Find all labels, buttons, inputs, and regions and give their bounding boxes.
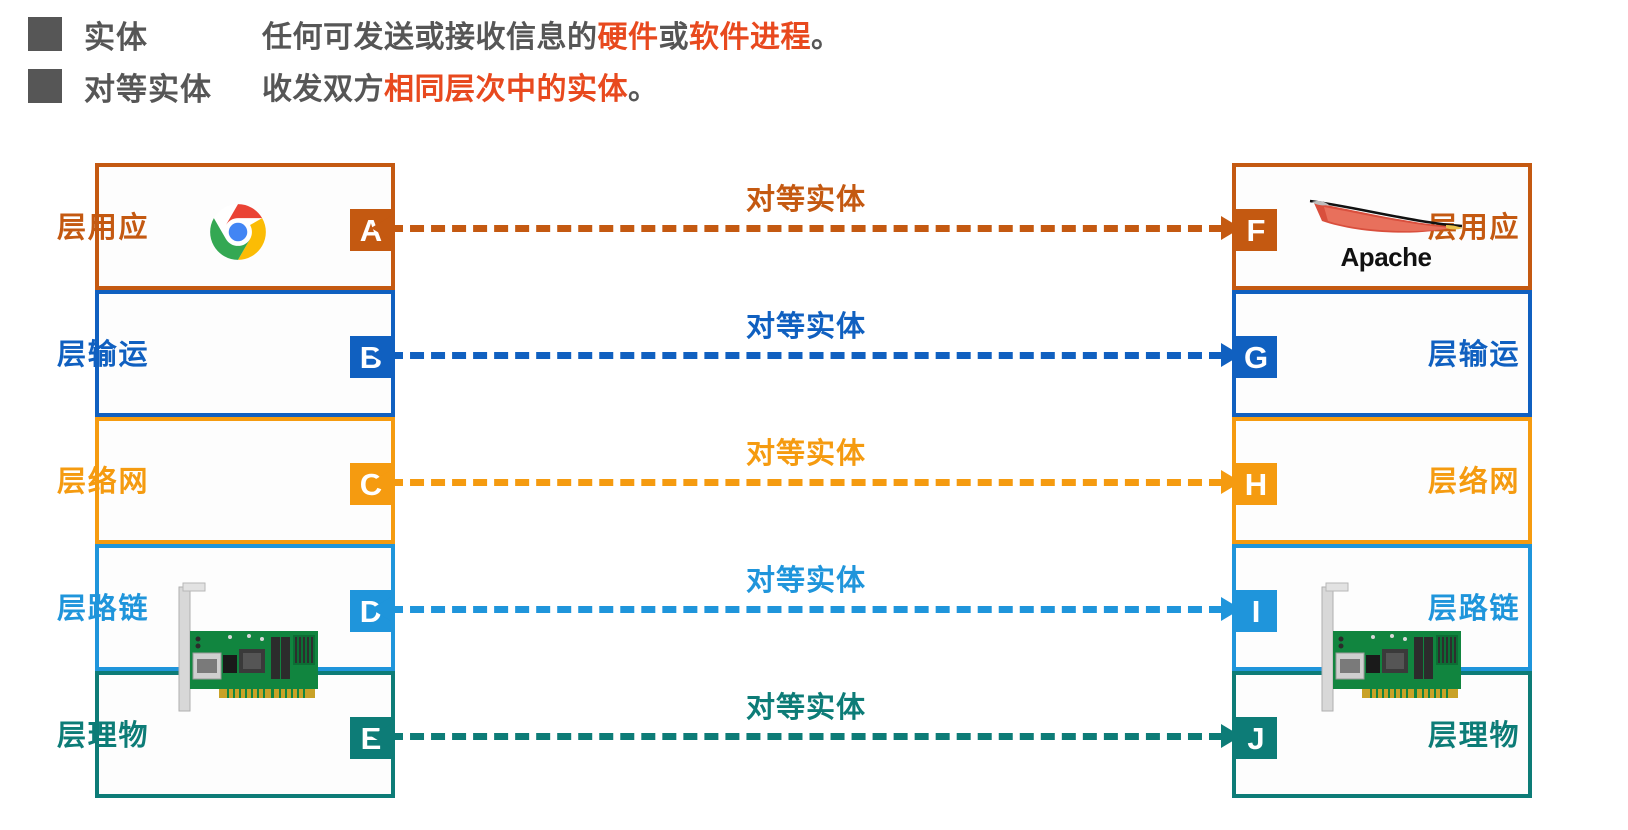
peer-link-dashed-line — [389, 606, 1223, 613]
peer-link-label-transport: 对等实体 — [375, 303, 1237, 345]
apache-feather-icon — [1296, 193, 1476, 241]
right-layer-label-transport: 运输层 — [1482, 324, 1516, 384]
right-layer-label-application: 应用层 — [1482, 197, 1516, 257]
network-interface-card-icon — [1310, 579, 1470, 719]
peer-link-dashed-line — [389, 733, 1223, 740]
right-entity-badge-i[interactable]: I — [1235, 590, 1277, 632]
peer-link-dashed-line — [389, 225, 1223, 232]
right-entity-badge-j[interactable]: J — [1235, 717, 1277, 759]
right-layer-label-link: 链路层 — [1482, 578, 1516, 638]
right-entity-badge-g[interactable]: G — [1235, 336, 1277, 378]
arrow-left-icon — [371, 216, 391, 240]
peer-link-label-physical: 对等实体 — [375, 684, 1237, 726]
peer-link-label-network: 对等实体 — [375, 430, 1237, 472]
peer-link-dashed-line — [389, 352, 1223, 359]
arrow-right-icon — [1221, 724, 1241, 748]
apache-logo: Apache — [1296, 193, 1476, 273]
right-layer-label-network: 网络层 — [1482, 451, 1516, 511]
right-layer-network: 网络层 H — [1232, 417, 1532, 544]
chrome-logo-icon — [209, 203, 267, 261]
peer-link-label-application: 对等实体 — [375, 176, 1237, 218]
arrow-right-icon — [1221, 597, 1241, 621]
arrow-right-icon — [1221, 343, 1241, 367]
right-entity-badge-f[interactable]: F — [1235, 209, 1277, 251]
network-interface-card-icon — [167, 579, 327, 719]
left-layer-label-physical: 物理层 — [111, 705, 145, 765]
right-layer-application: 应用层 F Apache — [1232, 163, 1532, 290]
right-layer-label-physical: 物理层 — [1482, 705, 1516, 765]
peer-link-dashed-line — [389, 479, 1223, 486]
arrow-right-icon — [1221, 470, 1241, 494]
left-layer-label-link: 链路层 — [111, 578, 145, 638]
left-layer-label-network: 网络层 — [111, 451, 145, 511]
right-layer-transport: 运输层 G — [1232, 290, 1532, 417]
protocol-stack-diagram: 应用层 A 运输层 B 网络层 C 链路层 — [0, 0, 1628, 830]
right-entity-badge-h[interactable]: H — [1235, 463, 1277, 505]
arrow-right-icon — [1221, 216, 1241, 240]
apache-wordmark: Apache — [1296, 242, 1476, 273]
arrow-left-icon — [371, 597, 391, 621]
peer-link-label-link: 对等实体 — [375, 557, 1237, 599]
arrow-left-icon — [371, 724, 391, 748]
left-layer-network: 网络层 C — [95, 417, 395, 544]
left-layer-application: 应用层 A — [95, 163, 395, 290]
left-layer-label-transport: 运输层 — [111, 324, 145, 384]
arrow-left-icon — [371, 470, 391, 494]
left-layer-transport: 运输层 B — [95, 290, 395, 417]
arrow-left-icon — [371, 343, 391, 367]
left-layer-label-application: 应用层 — [111, 197, 145, 257]
